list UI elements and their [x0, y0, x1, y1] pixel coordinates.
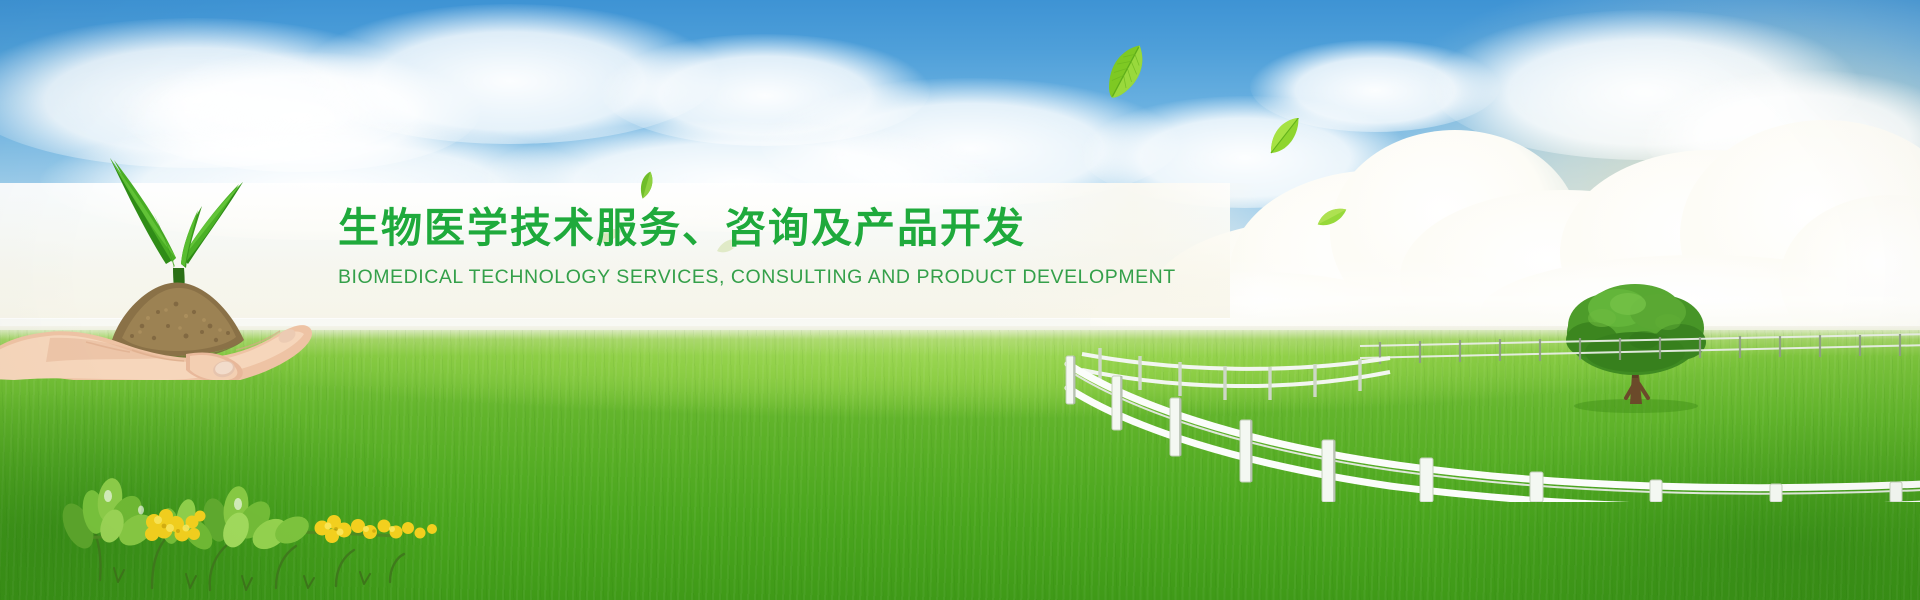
falling-leaf-icon	[1263, 118, 1307, 163]
hand-with-sprout	[0, 140, 330, 380]
falling-leaf-icon	[1315, 205, 1349, 234]
page-title: 生物医学技术服务、咨询及产品开发	[338, 206, 1098, 252]
wildflowers	[40, 430, 460, 600]
hero-banner: 生物医学技术服务、咨询及产品开发 BIOMEDICAL TECHNOLOGY S…	[0, 0, 1920, 600]
falling-leaf-icon	[637, 170, 655, 205]
falling-leaf-icon	[1100, 40, 1152, 107]
fence-icon	[1060, 312, 1920, 502]
page-subtitle: BIOMEDICAL TECHNOLOGY SERVICES, CONSULTI…	[338, 266, 1098, 289]
banner-text-block: 生物医学技术服务、咨询及产品开发 BIOMEDICAL TECHNOLOGY S…	[338, 206, 1098, 289]
sprout-icon	[110, 158, 243, 300]
